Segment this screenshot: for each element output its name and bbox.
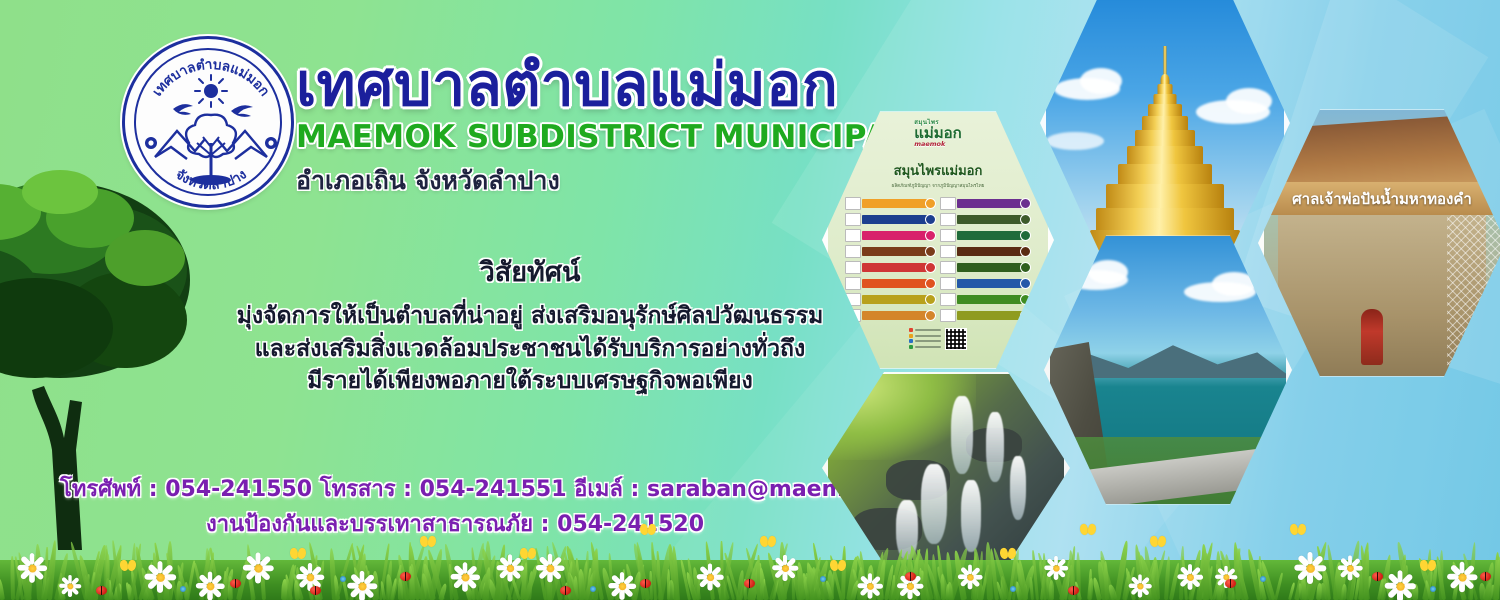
butterfly-icon bbox=[120, 560, 136, 574]
daisy-flower bbox=[1340, 558, 1359, 577]
daisy-flower bbox=[500, 558, 521, 579]
pagoda-caption-line-1: วัดพระ bbox=[1234, 0, 1284, 7]
vision-heading: วิสัยทัศน์ bbox=[190, 250, 870, 293]
butterfly-icon bbox=[760, 536, 776, 550]
ladybug-icon bbox=[230, 579, 241, 588]
daisy-flower bbox=[454, 566, 477, 589]
grass-blade bbox=[1049, 580, 1054, 600]
blue-insect-icon bbox=[590, 586, 596, 592]
daisy-flower bbox=[1047, 559, 1065, 577]
ladybug-icon bbox=[400, 572, 411, 581]
butterfly-icon bbox=[1290, 524, 1306, 538]
blue-insect-icon bbox=[820, 576, 826, 582]
ladybug-icon bbox=[1480, 572, 1491, 581]
daisy-flower bbox=[62, 578, 79, 595]
ladybug-icon bbox=[640, 579, 651, 588]
daisy-flower bbox=[539, 557, 561, 579]
daisy-flower bbox=[21, 557, 44, 580]
sun-icon bbox=[195, 75, 227, 107]
daisy-flower bbox=[199, 575, 221, 597]
page-title-english: MAEMOK SUBDISTRICT MUNICIPALITY bbox=[296, 119, 936, 155]
hexagon-frame bbox=[1044, 230, 1292, 510]
hexagon-frame bbox=[1258, 104, 1500, 382]
butterfly-icon bbox=[1080, 524, 1096, 538]
butterfly-icon bbox=[290, 548, 306, 562]
blue-insect-icon bbox=[340, 576, 346, 582]
blue-insect-icon bbox=[1260, 576, 1266, 582]
ladybug-icon bbox=[310, 586, 321, 595]
vision-line-3: มีรายได้เพียงพอภายใต้ระบบเศรษฐกิจพอเพียง bbox=[190, 365, 870, 398]
ladybug-icon bbox=[96, 586, 107, 595]
ladybug-icon bbox=[905, 572, 916, 581]
page-title-thai: เทศบาลตำบลแม่มอก bbox=[296, 54, 936, 117]
daisy-flower bbox=[350, 574, 373, 597]
grass-blade bbox=[668, 580, 674, 600]
hexagon-frame bbox=[1040, 0, 1290, 264]
pagoda-caption-line-2: บ้านกุ่ม bbox=[1234, 7, 1284, 18]
daisy-flower bbox=[1450, 565, 1473, 588]
hexagon-photo-shrine[interactable]: ศาลเจ้าพ่อปันน้ำมหาทองคำ bbox=[1258, 104, 1500, 382]
daisy-flower bbox=[1298, 556, 1323, 581]
blue-insect-icon bbox=[1430, 586, 1436, 592]
daisy-flower bbox=[611, 575, 632, 596]
butterfly-icon bbox=[1420, 560, 1436, 574]
blue-insect-icon bbox=[1010, 586, 1016, 592]
municipality-banner: เทศบาลตำบลแม่มอก จังหวัดลำปาง bbox=[0, 0, 1500, 600]
butterfly-icon bbox=[520, 548, 536, 562]
municipality-seal: เทศบาลตำบลแม่มอก จังหวัดลำปาง bbox=[122, 36, 294, 208]
daisy-flower bbox=[700, 567, 721, 588]
blue-insect-icon bbox=[180, 586, 186, 592]
page-subtitle-thai: อำเภอเถิน จังหวัดลำปาง bbox=[296, 161, 936, 201]
ladybug-icon bbox=[1068, 586, 1079, 595]
butterfly-icon bbox=[1150, 536, 1166, 550]
grass-blade bbox=[757, 555, 760, 600]
vision-line-2: และส่งเสริมสิ่งแวดล้อมประชาชนได้รับบริกา… bbox=[190, 333, 870, 366]
vision-line-1: มุ่งจัดการให้เป็นตำบลที่น่าอยู่ ส่งเสริม… bbox=[190, 300, 870, 333]
butterfly-icon bbox=[640, 524, 656, 538]
grass-border bbox=[0, 528, 1500, 600]
butterfly-icon bbox=[420, 536, 436, 550]
daisy-flower bbox=[246, 556, 270, 580]
daisy-flower bbox=[1131, 577, 1149, 595]
daisy-flower bbox=[860, 576, 880, 596]
hexagon-photo-golden-pagoda[interactable]: วัดพระ บ้านกุ่ม อำเภอ bbox=[1040, 0, 1290, 264]
butterfly-icon bbox=[1000, 548, 1016, 562]
butterfly-icon bbox=[830, 560, 846, 574]
ladybug-icon bbox=[1372, 572, 1383, 581]
title-block: เทศบาลตำบลแม่มอก MAEMOK SUBDISTRICT MUNI… bbox=[296, 54, 936, 201]
hexagon-photo-reservoir-dam[interactable] bbox=[1044, 230, 1292, 510]
grass-blade bbox=[1300, 577, 1306, 600]
daisy-flower bbox=[148, 565, 172, 589]
daisy-flower bbox=[1388, 574, 1412, 598]
vision-statement: วิสัยทัศน์ มุ่งจัดการให้เป็นตำบลที่น่าอย… bbox=[190, 250, 870, 398]
ladybug-icon bbox=[1225, 579, 1236, 588]
ladybug-icon bbox=[744, 579, 755, 588]
daisy-flower bbox=[1180, 567, 1200, 587]
contact-line-phone-fax-email[interactable]: โทรศัพท์ : 054-241550 โทรสาร : 054-24155… bbox=[60, 472, 850, 507]
daisy-flower bbox=[961, 568, 980, 587]
daisy-flower bbox=[299, 566, 321, 588]
daisy-flower bbox=[775, 558, 795, 578]
ladybug-icon bbox=[560, 586, 571, 595]
